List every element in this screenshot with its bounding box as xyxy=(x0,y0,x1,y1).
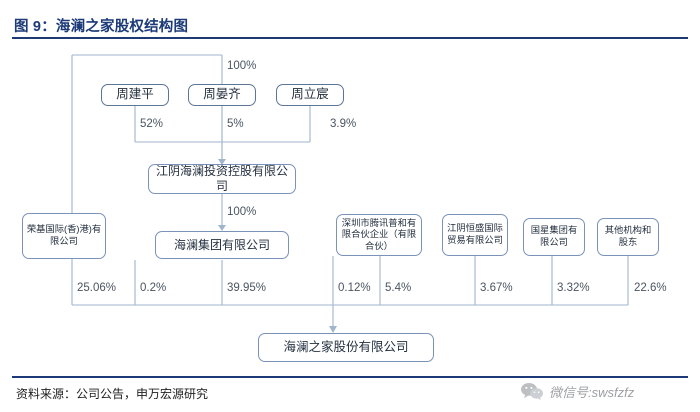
edge-label-rongji: 25.06% xyxy=(77,282,116,294)
figure-container: 图 9：海澜之家股权结构图 xyxy=(0,0,700,412)
node-label: 周晏齐 xyxy=(203,87,241,102)
watermark: 微信号:swsfzfz xyxy=(520,382,634,401)
node-shenzhen-tencent-puhe-lp[interactable]: 深圳市腾讯普和有限合伙企业（有限合伙） xyxy=(336,214,422,256)
node-label: 海澜集团有限公司 xyxy=(174,238,270,253)
node-label: 荣基国际(香)港)有限公司 xyxy=(26,224,102,247)
node-person-zhou-lichen[interactable]: 周立宸 xyxy=(276,84,344,106)
node-rongji-international-hk[interactable]: 荣基国际(香)港)有限公司 xyxy=(22,213,106,259)
edge-label-holding-to-group: 100% xyxy=(227,206,256,218)
watermark-text: 微信号:swsfzfz xyxy=(549,382,634,401)
edge-label-hengsheng: 3.67% xyxy=(480,282,513,294)
edge-label-zhou-yanqi: 5% xyxy=(227,118,244,130)
node-label: 江阴恒盛国际贸易有限公司 xyxy=(446,223,504,246)
node-jiangyin-heilan-investment-holding[interactable]: 江阴海澜投资控股有限公司 xyxy=(148,164,296,194)
edge-label-zhou-jianping: 52% xyxy=(140,118,163,130)
node-other-institutions-shareholders[interactable]: 其他机构和股东 xyxy=(597,218,659,256)
ownership-structure-diagram: 周建平 周晏齐 周立宸 100% 52% 5% 3.9% 江阴海澜投资控股有限公… xyxy=(0,42,700,372)
node-label: 其他机构和股东 xyxy=(601,225,655,248)
edge-label-tencent: 5.4% xyxy=(385,282,411,294)
node-jiangyin-hengsheng-trade[interactable]: 江阴恒盛国际贸易有限公司 xyxy=(442,214,508,256)
node-label: 周建平 xyxy=(116,87,154,102)
node-person-zhou-yanqi[interactable]: 周晏齐 xyxy=(188,84,256,106)
node-heilan-group[interactable]: 海澜集团有限公司 xyxy=(155,231,289,259)
wechat-icon xyxy=(520,382,544,401)
node-guoxing-group[interactable]: 国星集团有限公司 xyxy=(523,218,585,256)
source-note: 资料来源：公司公告，申万宏源研究 xyxy=(16,385,208,402)
edge-label-tencent-left: 0.12% xyxy=(338,282,371,294)
node-heilan-home-listed-company[interactable]: 海澜之家股份有限公司 xyxy=(258,333,434,362)
edge-label-group: 39.95% xyxy=(227,282,266,294)
page-title: 图 9：海澜之家股权结构图 xyxy=(14,15,188,36)
title-divider xyxy=(12,37,688,39)
edge-label-guoxing: 3.32% xyxy=(557,282,590,294)
edge-label-zhou-lichen: 3.9% xyxy=(330,118,356,130)
edge-label-top-100: 100% xyxy=(227,60,256,72)
edge-label-holding: 0.2% xyxy=(140,282,166,294)
node-label: 海澜之家股份有限公司 xyxy=(283,340,408,355)
node-label: 江阴海澜投资控股有限公司 xyxy=(152,164,292,193)
edge-label-others: 22.6% xyxy=(634,282,667,294)
node-label: 国星集团有限公司 xyxy=(527,225,581,248)
node-person-zhou-jianping[interactable]: 周建平 xyxy=(101,84,169,106)
node-label: 深圳市腾讯普和有限合伙企业（有限合伙） xyxy=(340,218,418,253)
footer-divider xyxy=(12,376,688,378)
node-label: 周立宸 xyxy=(291,87,329,102)
